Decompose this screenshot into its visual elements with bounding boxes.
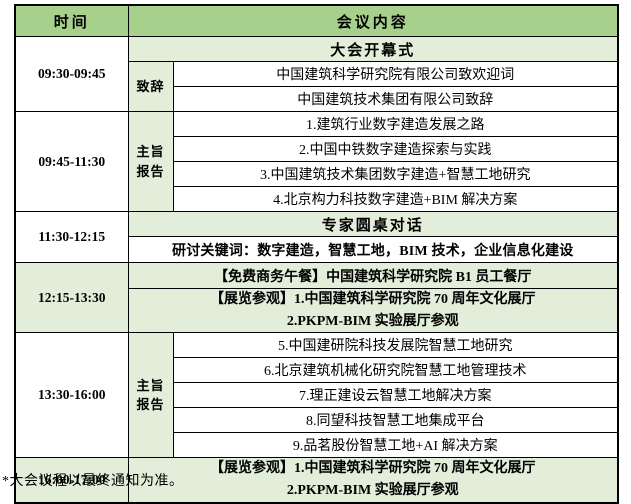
list-item: 6.北京建筑机械化研究院智慧工地管理技术 <box>173 358 618 383</box>
table-header-row: 时间 会议内容 <box>15 5 618 37</box>
kind-keynote-morning: 主旨 报告 <box>128 112 173 212</box>
kind-line-2: 报告 <box>129 395 173 415</box>
exhibit-line-1: 【展览参观】1.中国建筑科学研究院 70 周年文化展厅 <box>129 458 618 480</box>
list-item: 9.品茗股份智慧工地+AI 解决方案 <box>173 433 618 458</box>
list-item: 2.中国中铁数字建造探索与实践 <box>173 137 618 162</box>
time-opening: 09:30-09:45 <box>15 37 128 112</box>
list-item: 中国建筑科学研究院有限公司致欢迎词 <box>173 62 618 87</box>
time-keynote-afternoon: 13:30-16:00 <box>15 333 128 458</box>
exhibit-line-2: 2.PKPM-BIM 实验展厅参观 <box>129 311 618 333</box>
kind-keynote-afternoon: 主旨 报告 <box>128 333 173 458</box>
table-row: 11:30-12:15 专家圆桌对话 <box>15 212 618 237</box>
table-row: 09:30-09:45 大会开幕式 <box>15 37 618 62</box>
list-item: 3.中国建筑技术集团数字建造+智慧工地研究 <box>173 162 618 187</box>
header-time: 时间 <box>15 5 128 37</box>
section-title-opening: 大会开幕式 <box>128 37 618 62</box>
list-item: 中国建筑技术集团有限公司致辞 <box>173 87 618 112</box>
exhibit-info-closing: 【展览参观】1.中国建筑科学研究院 70 周年文化展厅 2.PKPM-BIM 实… <box>128 458 618 503</box>
time-keynote-morning: 09:45-11:30 <box>15 112 128 212</box>
header-content: 会议内容 <box>128 5 618 37</box>
roundtable-keywords: 研讨关键词：数字建造，智慧工地，BIM 技术，企业信息化建设 <box>128 237 618 263</box>
kind-line-1: 主旨 <box>129 142 173 162</box>
kind-line-1: 主旨 <box>129 376 173 396</box>
time-roundtable: 11:30-12:15 <box>15 212 128 263</box>
list-item: 1.建筑行业数字建造发展之路 <box>173 112 618 137</box>
exhibit-line-2: 2.PKPM-BIM 实验展厅参观 <box>129 480 618 502</box>
time-lunch-tour: 12:15-13:30 <box>15 263 128 333</box>
agenda-page: 时间 会议内容 09:30-09:45 大会开幕式 致辞 中国建筑科学研究院有限… <box>0 0 631 495</box>
list-item: 5.中国建研院科技发展院智慧工地研究 <box>173 333 618 358</box>
exhibit-line-1: 【展览参观】1.中国建筑科学研究院 70 周年文化展厅 <box>129 289 618 311</box>
kind-line-2: 报告 <box>129 162 173 182</box>
list-item: 8.同望科技智慧工地集成平台 <box>173 408 618 433</box>
table-row: 09:45-11:30 主旨 报告 1.建筑行业数字建造发展之路 <box>15 112 618 137</box>
conference-agenda-table: 时间 会议内容 09:30-09:45 大会开幕式 致辞 中国建筑科学研究院有限… <box>14 4 619 504</box>
footnote-text: *大会议程以最终通知为准。 <box>2 470 184 490</box>
lunch-info: 【免费商务午餐】中国建筑科学研究院 B1 员工餐厅 <box>128 263 618 289</box>
section-title-roundtable: 专家圆桌对话 <box>128 212 618 237</box>
list-item: 7.理正建设云智慧工地解决方案 <box>173 383 618 408</box>
exhibit-info-midday: 【展览参观】1.中国建筑科学研究院 70 周年文化展厅 2.PKPM-BIM 实… <box>128 289 618 333</box>
kind-opening: 致辞 <box>128 62 173 112</box>
table-row: 13:30-16:00 主旨 报告 5.中国建研院科技发展院智慧工地研究 <box>15 333 618 358</box>
table-row: 12:15-13:30 【免费商务午餐】中国建筑科学研究院 B1 员工餐厅 <box>15 263 618 289</box>
list-item: 4.北京构力科技数字建造+BIM 解决方案 <box>173 187 618 212</box>
